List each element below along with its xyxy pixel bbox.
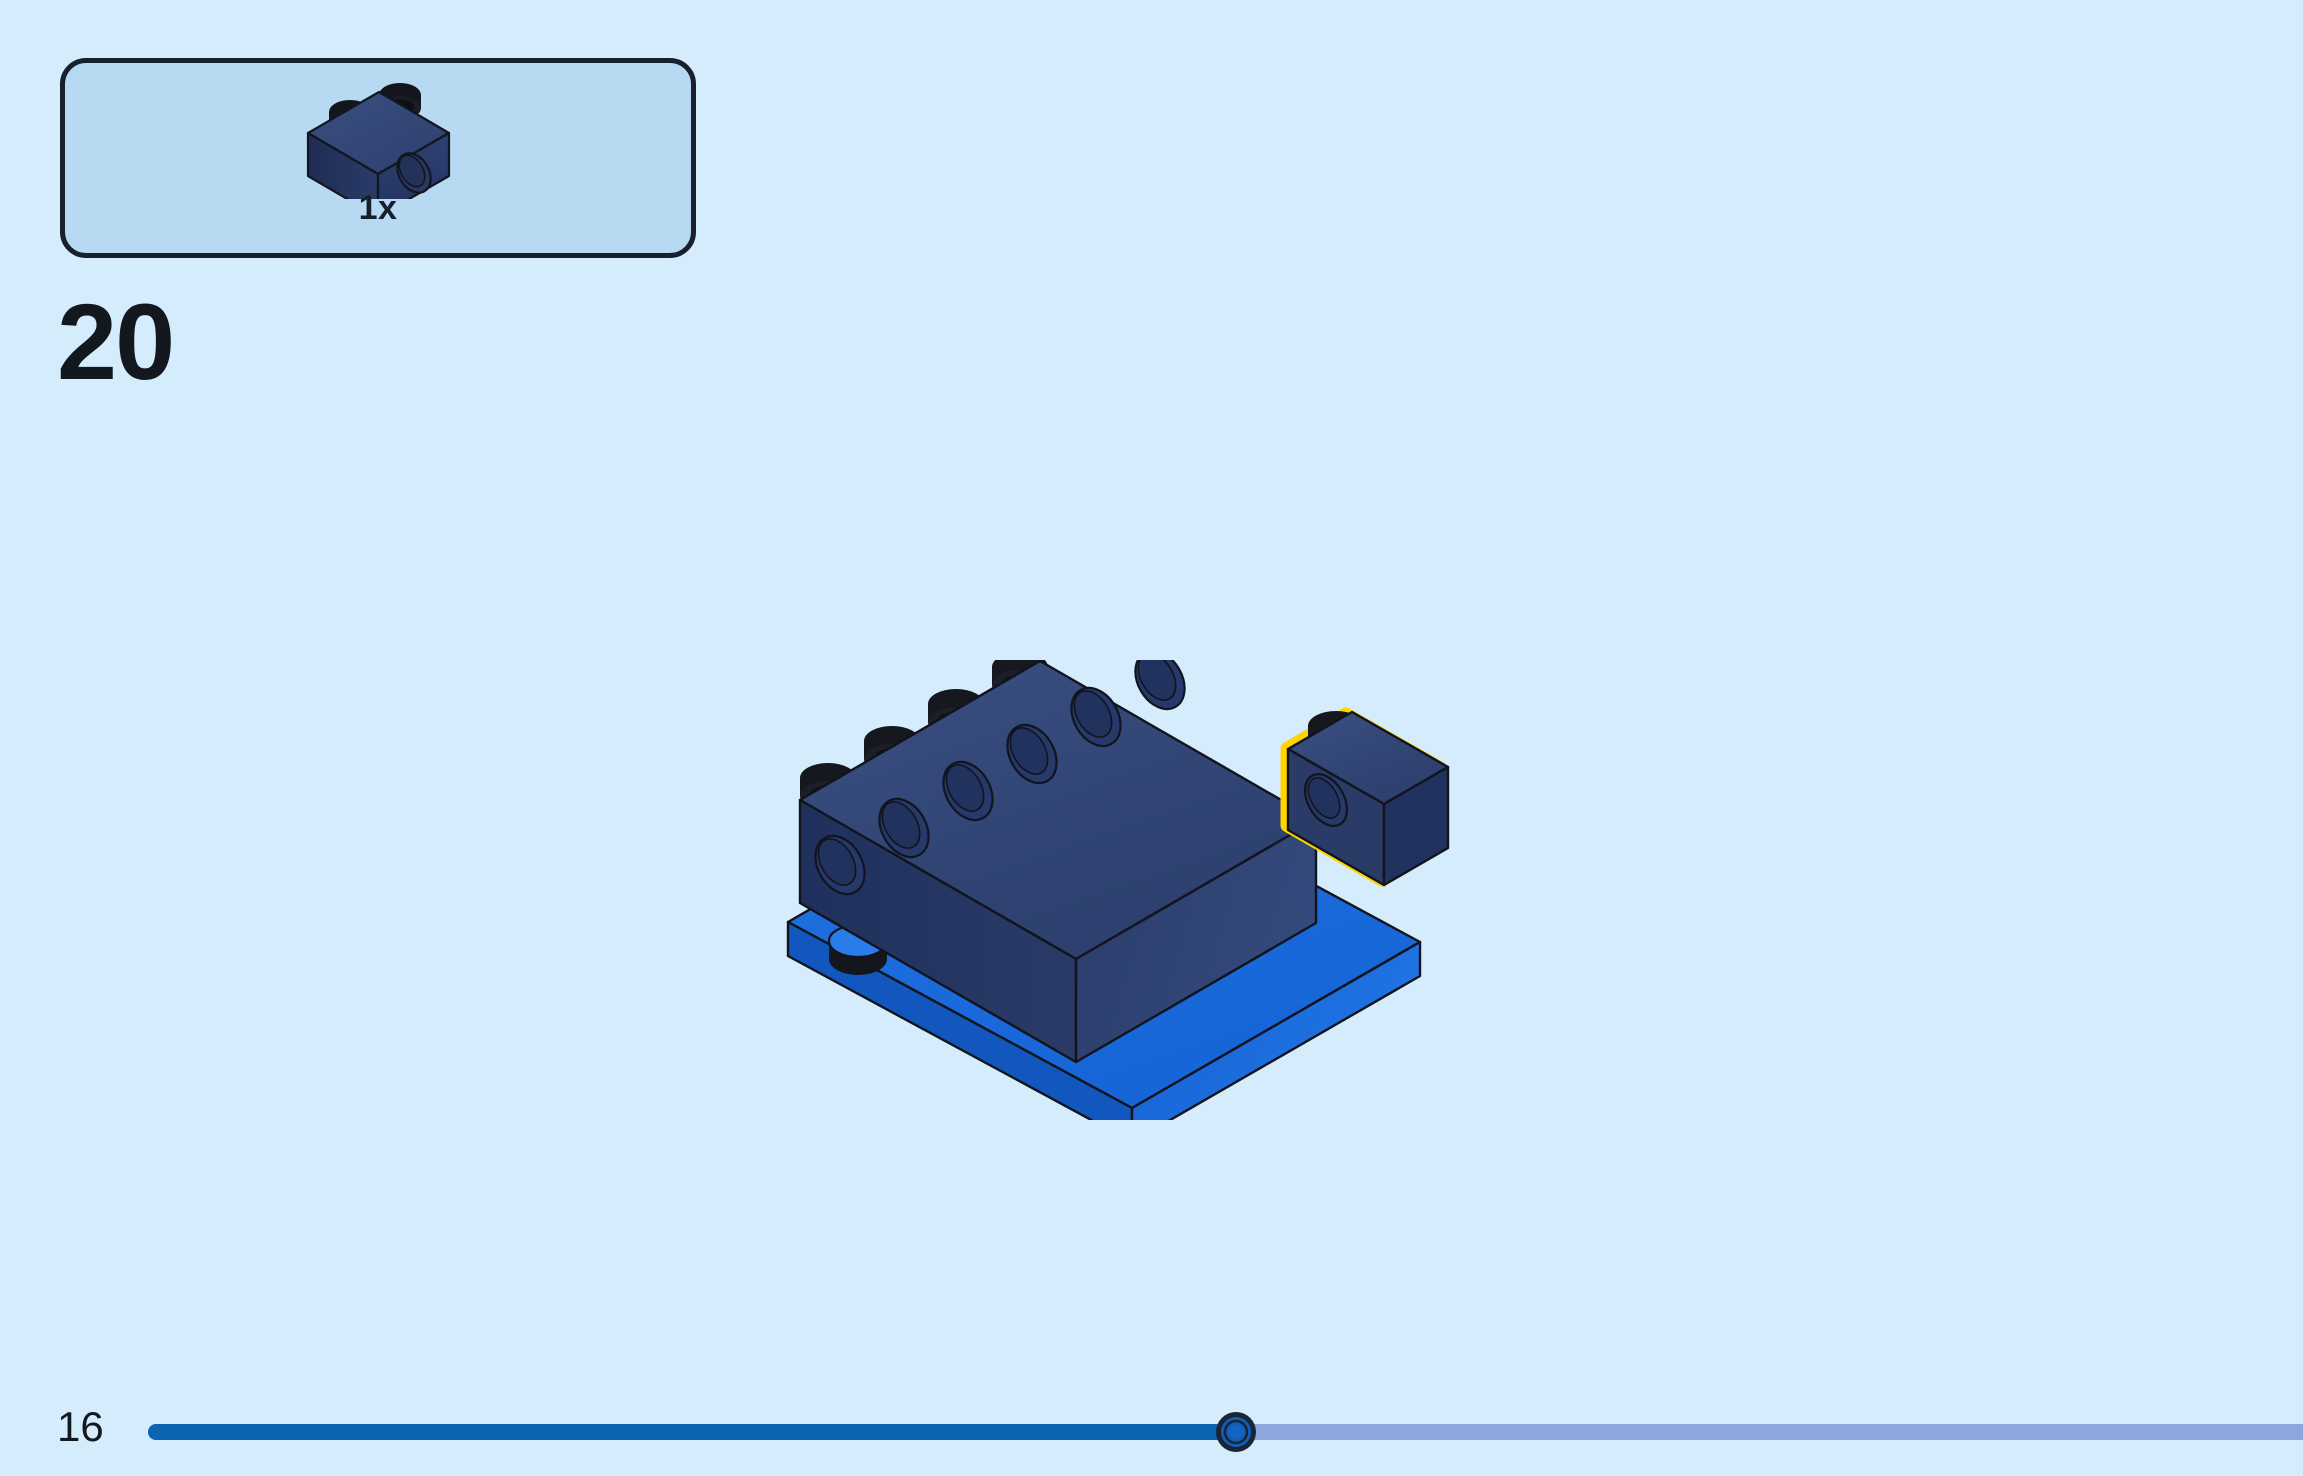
progress-track[interactable] xyxy=(148,1424,2303,1440)
progress-fill xyxy=(148,1424,1236,1440)
part-icon-technic-brick-1x2-with-hole xyxy=(278,71,478,199)
assembly-illustration xyxy=(780,660,1480,1120)
progress-knob[interactable] xyxy=(1214,1410,1258,1454)
part-quantity-label: 1x xyxy=(359,189,398,228)
footer-bar: 16 xyxy=(0,1356,2303,1476)
step-number: 20 xyxy=(57,288,173,396)
parts-needed-callout: 1x xyxy=(60,58,696,258)
page-number: 16 xyxy=(57,1406,104,1448)
